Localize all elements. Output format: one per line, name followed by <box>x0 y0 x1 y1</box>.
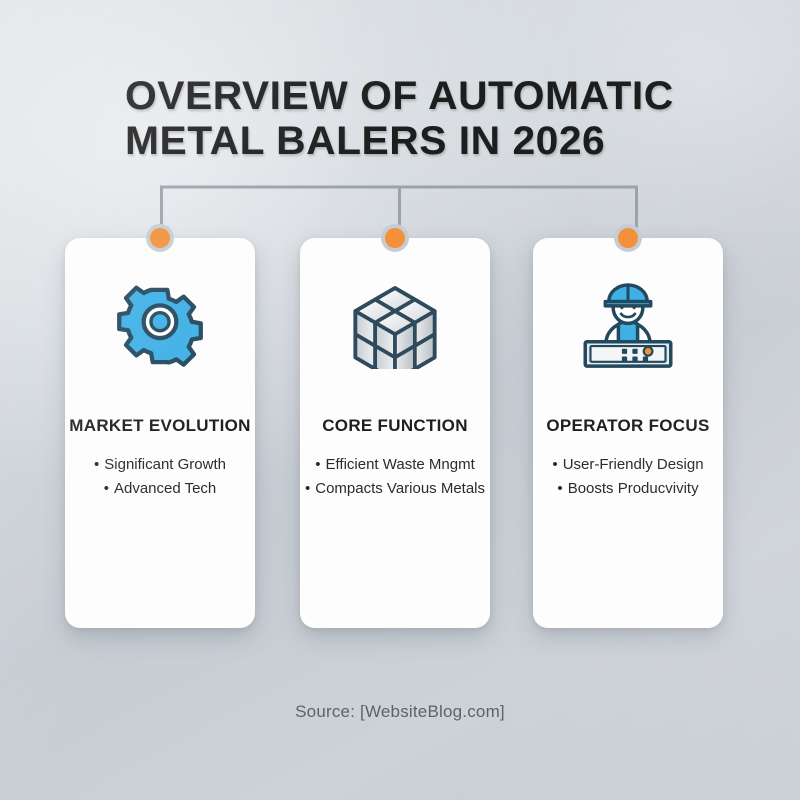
list-item: •Efficient Waste Mngmt <box>300 453 490 477</box>
bullet-list-operator-focus: •User-Friendly Design •Boosts Producvivi… <box>533 453 723 501</box>
orange-dot-icon <box>150 228 170 248</box>
bullet-list-core-function: •Efficient Waste Mngmt •Compacts Various… <box>300 453 490 501</box>
operator-console-icon <box>580 280 676 372</box>
bullet-icon: • <box>557 477 562 501</box>
node-marker-core-function <box>381 224 409 252</box>
list-item: •User-Friendly Design <box>533 453 723 477</box>
bullet-text: Advanced Tech <box>114 480 216 497</box>
bullet-text: Efficient Waste Mngmt <box>326 456 475 473</box>
gear-icon <box>117 283 203 369</box>
card-core-function[interactable]: CORE FUNCTION •Efficient Waste Mngmt •Co… <box>300 238 490 628</box>
card-heading-core-function: CORE FUNCTION <box>300 416 490 436</box>
console-indicator-light-icon <box>644 347 653 356</box>
card-operator-focus[interactable]: OPERATOR FOCUS •User-Friendly Design •Bo… <box>533 238 723 628</box>
bullet-list-market-evolution: •Significant Growth •Advanced Tech <box>65 453 255 501</box>
icon-slot-operator-focus <box>533 276 723 376</box>
infographic-canvas: OVERVIEW OF AUTOMATIC METAL BALERS IN 20… <box>0 0 800 800</box>
bullet-icon: • <box>94 453 99 477</box>
bullet-text: Boosts Producvivity <box>568 480 699 497</box>
list-item: •Compacts Various Metals <box>300 477 490 501</box>
title-line-1: OVERVIEW OF AUTOMATIC <box>125 74 757 119</box>
bullet-text: Compacts Various Metals <box>315 480 485 497</box>
page-title: OVERVIEW OF AUTOMATIC METAL BALERS IN 20… <box>125 74 745 164</box>
node-marker-operator-focus <box>614 224 642 252</box>
list-item: •Boosts Producvivity <box>533 477 723 501</box>
list-item: •Significant Growth <box>65 453 255 477</box>
bullet-text: User-Friendly Design <box>563 456 704 473</box>
title-line-2: METAL BALERS IN 2026 <box>125 119 757 164</box>
card-market-evolution[interactable]: MARKET EVOLUTION •Significant Growth •Ad… <box>65 238 255 628</box>
card-heading-operator-focus: OPERATOR FOCUS <box>533 416 723 436</box>
card-heading-market-evolution: MARKET EVOLUTION <box>65 416 255 436</box>
cube-icon <box>353 283 437 369</box>
list-item: •Advanced Tech <box>65 477 255 501</box>
bullet-icon: • <box>315 453 320 477</box>
source-caption: Source: [WebsiteBlog.com] <box>0 702 800 722</box>
bullet-icon: • <box>104 477 109 501</box>
icon-slot-market-evolution <box>65 276 255 376</box>
bullet-icon: • <box>305 477 310 501</box>
orange-dot-icon <box>618 228 638 248</box>
node-marker-market-evolution <box>146 224 174 252</box>
bullet-text: Significant Growth <box>104 456 226 473</box>
icon-slot-core-function <box>300 276 490 376</box>
bullet-icon: • <box>552 453 557 477</box>
orange-dot-icon <box>385 228 405 248</box>
